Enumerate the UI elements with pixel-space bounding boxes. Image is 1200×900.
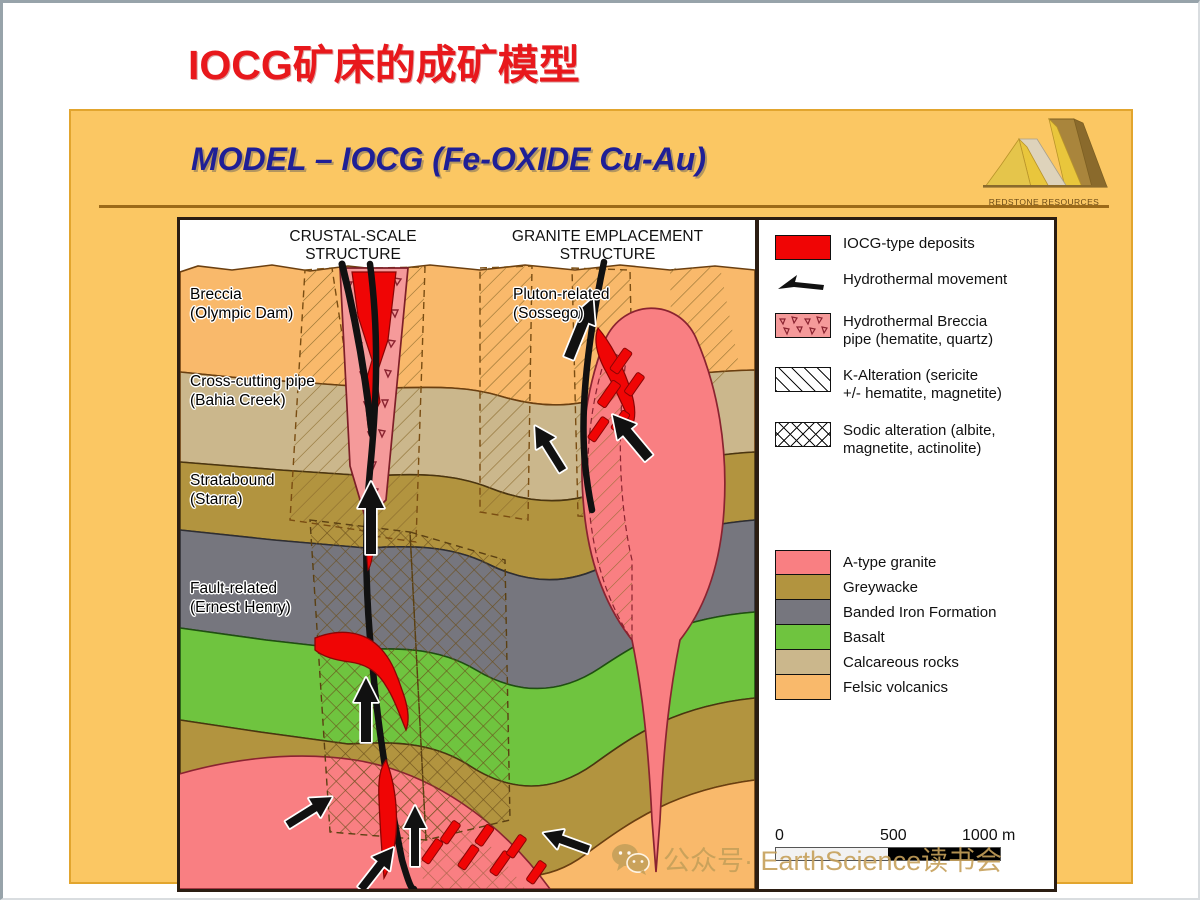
legend-sodic-line2: magnetite, actinolite) [843,440,996,458]
swatch-sodic-alteration [775,422,831,447]
geology-cross-section: CRUSTAL-SCALE STRUCTURE GRANITE EMPLACEM… [180,220,755,889]
breccia-clast-pattern-icon [776,314,829,336]
anno-strata-line1: Stratabound [190,472,274,491]
legend-rock-units: A-type graniteGreywackeBanded Iron Forma… [775,550,996,700]
header-crustal-line1: CRUSTAL-SCALE [238,228,468,246]
anno-strata-line2: (Starra) [190,491,274,510]
legend-label-rock-unit: A-type granite [843,554,936,571]
legend-label-hydrothermal: Hydrothermal movement [843,270,1007,289]
annotation-pluton-related-sossego: Pluton-related (Sossego) [513,286,610,323]
swatch-k-alteration [775,367,831,392]
legend-breccia-line2: pipe (hematite, quartz) [843,331,993,349]
legend-kalt-line2: +/- hematite, magnetite) [843,385,1002,403]
legend-item-k-alteration: K-Alteration (sericite +/- hematite, mag… [775,366,1047,404]
legend-item-breccia-pipe: Hydrothermal Breccia pipe (hematite, qua… [775,312,1047,350]
legend-kalt-line1: K-Alteration (sericite [843,367,1002,385]
wechat-icon [611,842,651,876]
legend-sodic-line1: Sodic alteration (albite, [843,422,996,440]
legend-iocg-line1: IOCG-type deposits [843,235,975,253]
legend-item-rock-unit: Calcareous rocks [775,650,996,675]
legend-label-k-alteration: K-Alteration (sericite +/- hematite, mag… [843,366,1002,404]
anno-breccia-line1: Breccia [190,286,293,305]
watermark-text: 公众号· EarthScience读书会 [663,839,1002,878]
legend-item-sodic-alteration: Sodic alteration (albite, magnetite, act… [775,421,1047,459]
cross-section-figure: CRUSTAL-SCALE STRUCTURE GRANITE EMPLACEM… [177,217,1057,892]
legend-item-rock-unit: Greywacke [775,575,996,600]
legend-item-rock-unit: A-type granite [775,550,996,575]
annotation-breccia-olympic-dam: Breccia (Olympic Dam) [190,286,293,323]
logo-caption: REDSTONE RESOURCES [979,197,1109,207]
legend-label-rock-unit: Felsic volcanics [843,679,948,696]
swatch-rock-unit [775,575,831,600]
legend-symbol-list: IOCG-type deposits Hydrothermal movement [775,234,1047,477]
swatch-iocg-deposit [775,235,831,260]
header-crustal-scale: CRUSTAL-SCALE STRUCTURE [238,228,468,265]
header-granite-line2: STRUCTURE [465,246,750,264]
annotation-fault-related-ernest-henry: Fault-related (Ernest Henry) [190,580,291,617]
panel-title: MODEL – IOCG (Fe-OXIDE Cu-Au) [191,141,706,178]
slide-page: IOCG矿床的成矿模型 MODEL – IOCG (Fe-OXIDE Cu-Au… [0,0,1200,900]
swatch-rock-unit [775,675,831,700]
annotation-stratabound-starra: Stratabound (Starra) [190,472,274,509]
anno-pluton-line1: Pluton-related [513,286,610,305]
legend-item-rock-unit: Basalt [775,625,996,650]
legend-breccia-line1: Hydrothermal Breccia [843,313,993,331]
watermark: 公众号· EarthScience读书会 [611,839,1002,878]
anno-fault-line1: Fault-related [190,580,291,599]
legend-hydro-line1: Hydrothermal movement [843,271,1007,289]
arrow-icon [775,271,831,296]
legend-label-rock-unit: Greywacke [843,579,918,596]
anno-breccia-line2: (Olympic Dam) [190,305,293,324]
swatch-rock-unit [775,650,831,675]
anno-pipe-line2: (Bahia Creek) [190,392,315,411]
legend-label-breccia: Hydrothermal Breccia pipe (hematite, qua… [843,312,993,350]
legend-item-rock-unit: Felsic volcanics [775,675,996,700]
legend-label-iocg: IOCG-type deposits [843,234,975,253]
swatch-rock-unit [775,625,831,650]
title-divider [99,205,1109,208]
redstone-logo: REDSTONE RESOURCES [979,117,1109,209]
mountain-logo-icon [979,117,1109,195]
swatch-hydrothermal-arrow [775,271,831,296]
legend-label-sodic-alteration: Sodic alteration (albite, magnetite, act… [843,421,996,459]
legend-label-rock-unit: Calcareous rocks [843,654,959,671]
legend-label-rock-unit: Basalt [843,629,885,646]
swatch-breccia-pipe [775,313,831,338]
swatch-rock-unit [775,550,831,575]
figure-legend: IOCG-type deposits Hydrothermal movement [759,220,1054,889]
anno-pipe-line1: Cross-cutting pipe [190,373,315,392]
legend-item-iocg-deposits: IOCG-type deposits [775,234,1047,260]
legend-item-hydrothermal-movement: Hydrothermal movement [775,270,1047,296]
header-granite-line1: GRANITE EMPLACEMENT [465,228,750,246]
page-title: IOCG矿床的成矿模型 [188,31,580,91]
anno-fault-line2: (Ernest Henry) [190,599,291,618]
annotation-cross-cutting-pipe: Cross-cutting pipe (Bahia Creek) [190,373,315,410]
legend-item-rock-unit: Banded Iron Formation [775,600,996,625]
anno-pluton-line2: (Sossego) [513,305,610,324]
header-granite-emplacement: GRANITE EMPLACEMENT STRUCTURE [465,228,750,265]
legend-label-rock-unit: Banded Iron Formation [843,604,996,621]
swatch-rock-unit [775,600,831,625]
header-crustal-line2: STRUCTURE [238,246,468,264]
slide-panel: MODEL – IOCG (Fe-OXIDE Cu-Au) REDSTONE R… [69,109,1133,884]
